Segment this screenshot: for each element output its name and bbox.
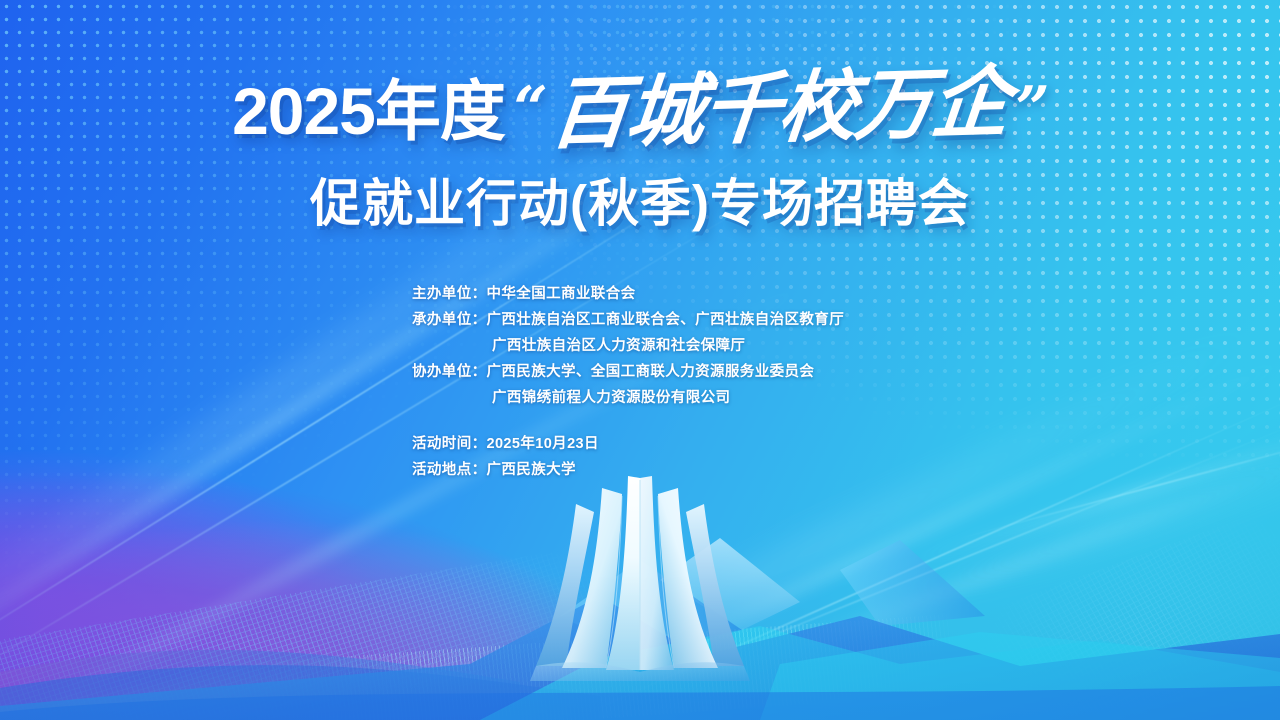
organizer-line-value: 广西民族大学、全国工商联人力资源服务业委员会 <box>487 364 815 380</box>
organizer-line-value: 广西壮族自治区工商业联合会、广西壮族自治区教育厅 <box>487 312 845 328</box>
organizer-line: 广西锦绣前程人力资源股份有限公司 <box>412 385 844 411</box>
event-line: 活动时间：2025年10月23日 <box>412 431 844 457</box>
organizer-line-label: 主办单位： <box>412 281 487 307</box>
subtitle: 促就业行动(秋季)专场招聘会 <box>0 176 1280 232</box>
organizer-line-label: 协办单位： <box>412 359 487 385</box>
event-lines: 活动时间：2025年10月23日活动地点：广西民族大学 <box>412 431 844 483</box>
event-line-label: 活动时间： <box>412 431 487 457</box>
event-line-value: 广西民族大学 <box>487 462 576 478</box>
title-year: 2025年度 <box>232 78 505 144</box>
quote-close-mark: ” <box>1007 74 1054 144</box>
event-line: 活动地点：广西民族大学 <box>412 457 844 483</box>
event-line-label: 活动地点： <box>412 457 487 483</box>
poster-content: 2025年度 “ 百城千校万企 ” 促就业行动(秋季)专场招聘会 主办单位：中华… <box>0 0 1280 720</box>
organizer-lines: 主办单位：中华全国工商业联合会承办单位：广西壮族自治区工商业联合会、广西壮族自治… <box>412 281 844 411</box>
quote-open-mark: “ <box>504 74 551 144</box>
organizer-line-value: 广西锦绣前程人力资源股份有限公司 <box>412 385 730 411</box>
organizer-line: 广西壮族自治区人力资源和社会保障厅 <box>412 333 844 359</box>
organizer-info-block: 主办单位：中华全国工商业联合会承办单位：广西壮族自治区工商业联合会、广西壮族自治… <box>412 281 844 483</box>
event-line-value: 2025年10月23日 <box>487 436 599 452</box>
organizer-line: 承办单位：广西壮族自治区工商业联合会、广西壮族自治区教育厅 <box>412 307 844 333</box>
organizer-line-value: 中华全国工商业联合会 <box>487 286 636 302</box>
organizer-line: 主办单位：中华全国工商业联合会 <box>412 281 844 307</box>
organizer-line-value: 广西壮族自治区人力资源和社会保障厅 <box>412 333 745 359</box>
main-title: 2025年度 “ 百城千校万企 ” <box>0 72 1280 146</box>
title-brush-slogan: 百城千校万企 <box>547 66 1011 153</box>
organizer-line: 协办单位：广西民族大学、全国工商联人力资源服务业委员会 <box>412 359 844 385</box>
organizer-line-label: 承办单位： <box>412 307 487 333</box>
info-spacer <box>412 411 844 431</box>
poster-canvas: 2025年度 “ 百城千校万企 ” 促就业行动(秋季)专场招聘会 主办单位：中华… <box>0 0 1280 720</box>
